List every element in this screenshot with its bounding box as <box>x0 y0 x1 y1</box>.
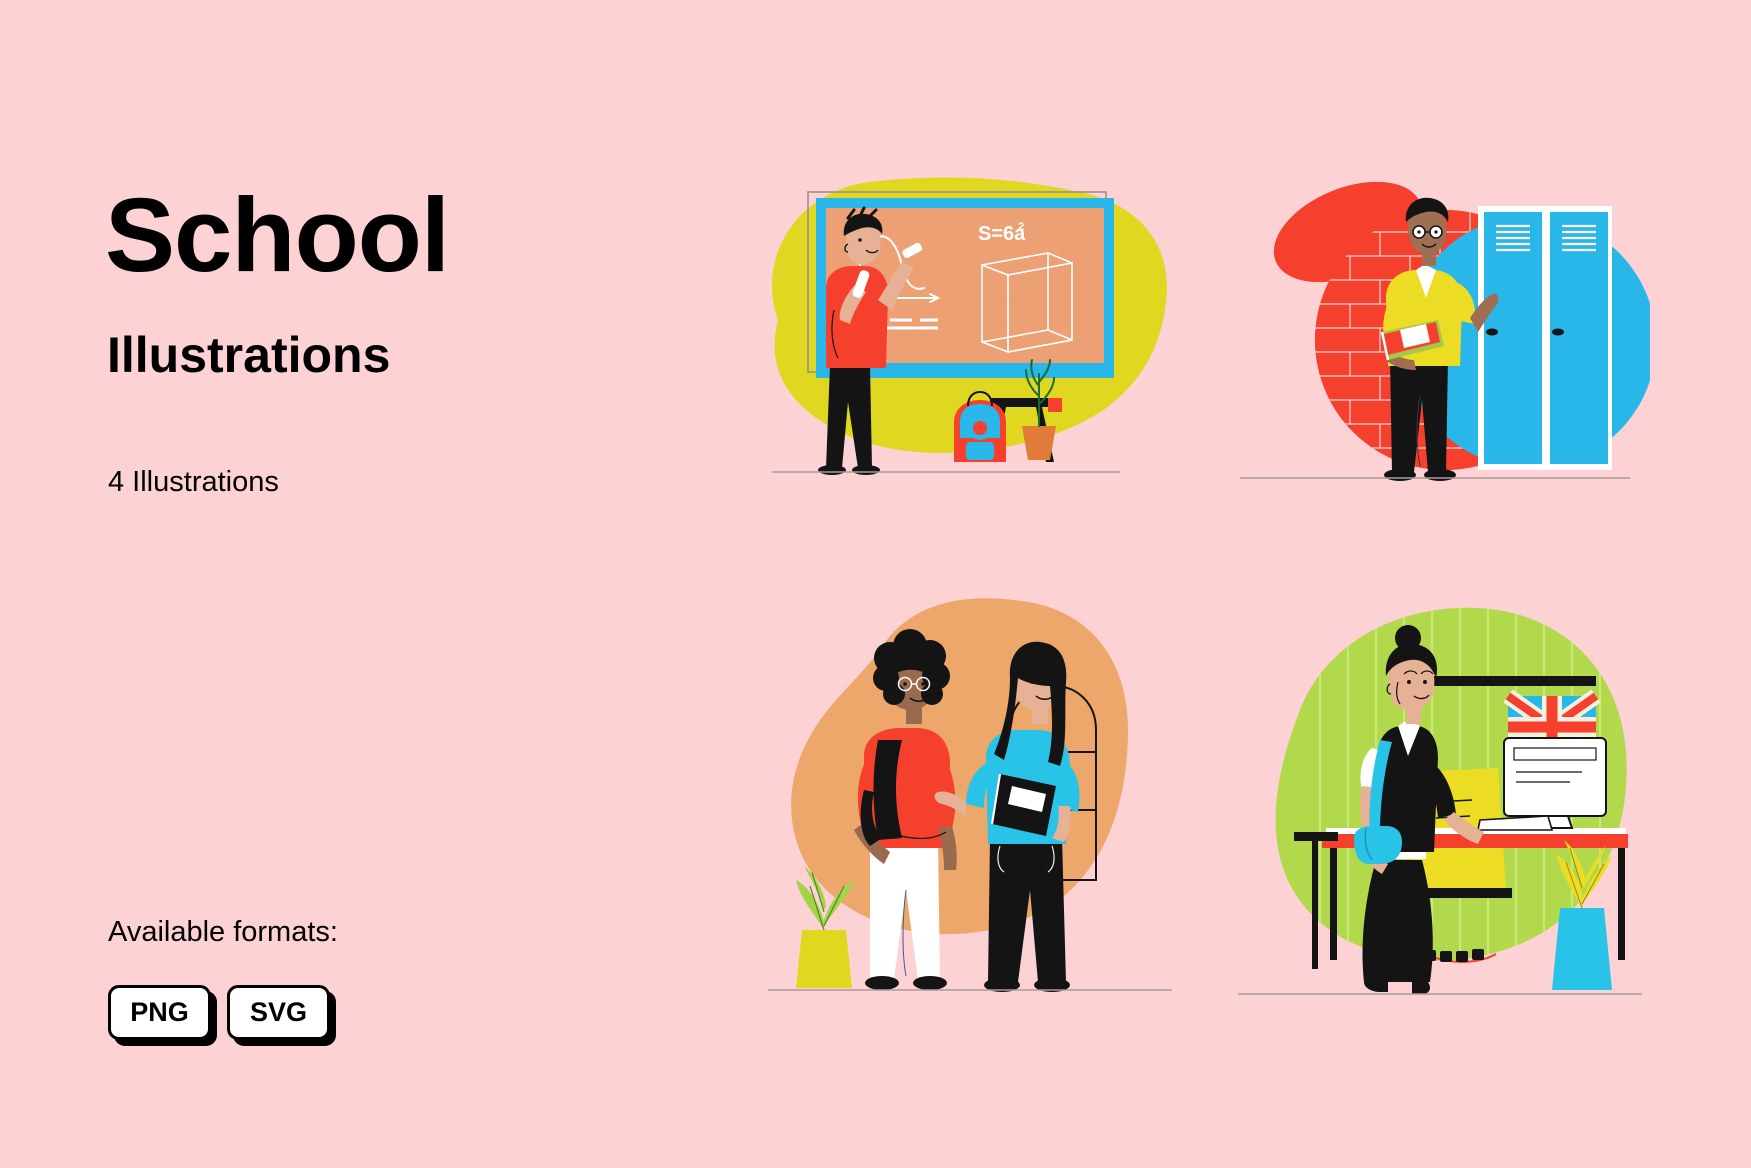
png-badge[interactable]: PNG <box>108 985 211 1040</box>
png-badge-label: PNG <box>130 997 189 1028</box>
shoulder-bag <box>1354 826 1402 864</box>
shoe-left <box>865 976 899 990</box>
lockers <box>1478 206 1612 470</box>
eye-left <box>903 682 907 686</box>
available-formats-label: Available formats: <box>108 918 338 947</box>
shoe-right <box>852 465 880 475</box>
illustration-language-classroom[interactable] <box>1230 590 1650 1020</box>
shoe-right <box>913 976 947 990</box>
eye-left-r <box>1030 680 1034 684</box>
eye-right <box>921 682 925 686</box>
illustration-chalkboard-lesson[interactable]: S=6a 2 <box>760 170 1180 520</box>
page-subtitle: Illustrations <box>107 330 390 380</box>
page-title: School <box>105 183 449 288</box>
neck-right <box>1032 708 1048 724</box>
formula-exponent: 2 <box>1018 221 1024 233</box>
side-table-top <box>1294 832 1338 841</box>
neck <box>1406 708 1421 724</box>
shoe-right <box>1424 469 1456 481</box>
eye-left <box>1407 680 1411 684</box>
skirt <box>1363 860 1433 982</box>
eye-right <box>1423 680 1427 684</box>
format-badge-group: PNG SVG <box>108 985 330 1040</box>
shelf <box>1426 676 1596 686</box>
illustration-count: 4 Illustrations <box>108 468 279 497</box>
hair-bun <box>1395 625 1421 651</box>
easel-clip <box>1048 398 1062 412</box>
desk-leg-right <box>1618 848 1625 960</box>
illustration-hallway-lockers[interactable] <box>1230 170 1650 520</box>
left-text-panel: School Illustrations 4 Illustrations Ava… <box>105 0 665 1168</box>
shoe-left <box>818 465 846 475</box>
shoe-left <box>1384 469 1416 481</box>
shoe-right <box>1412 982 1430 994</box>
neck-left <box>906 708 922 724</box>
eye <box>858 238 862 242</box>
locker-handle-right[interactable] <box>1552 329 1564 336</box>
side-table-leg <box>1312 841 1318 969</box>
svg-badge-label: SVG <box>250 997 307 1028</box>
locker-handle-left[interactable] <box>1486 329 1498 336</box>
desk-leg-left <box>1330 848 1337 960</box>
eye-right <box>1434 230 1437 233</box>
background-blob <box>791 598 1128 934</box>
monitor <box>1504 738 1606 828</box>
svg-badge[interactable]: SVG <box>227 985 330 1040</box>
shoe-left <box>1364 982 1388 992</box>
poster-canvas: School Illustrations 4 Illustrations Ava… <box>0 0 1751 1168</box>
eye-left <box>1417 230 1420 233</box>
eye-right-r <box>1046 680 1050 684</box>
illustration-students-talking[interactable] <box>760 590 1180 1020</box>
neck <box>1422 252 1436 266</box>
